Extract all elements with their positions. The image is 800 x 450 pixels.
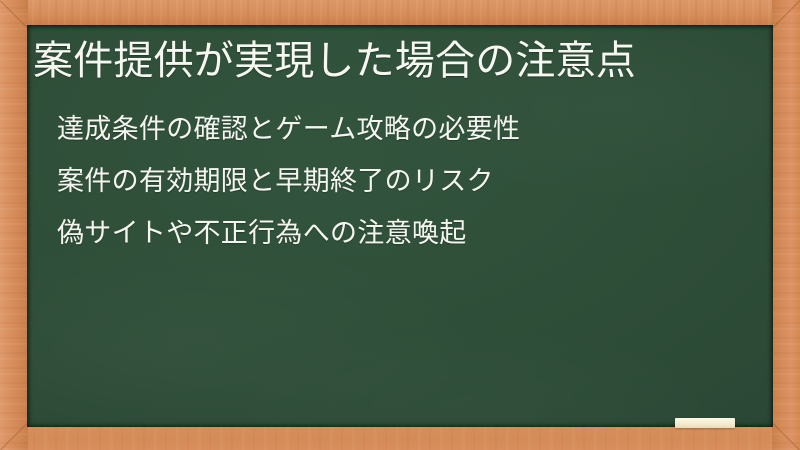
frame-rail-top xyxy=(0,0,800,26)
frame-rail-left xyxy=(0,0,28,450)
bullet-list: 達成条件の確認とゲーム攻略の必要性 案件の有効期限と早期終了のリスク 偽サイトや… xyxy=(57,103,757,259)
blackboard-surface: 案件提供が実現した場合の注意点 達成条件の確認とゲーム攻略の必要性 案件の有効期… xyxy=(27,25,773,427)
frame-rail-right xyxy=(772,0,800,450)
bullet-item-1: 達成条件の確認とゲーム攻略の必要性 xyxy=(57,103,757,155)
blackboard-content: 案件提供が実現した場合の注意点 達成条件の確認とゲーム攻略の必要性 案件の有効期… xyxy=(27,25,773,427)
frame-rail-bottom xyxy=(0,426,800,450)
bullet-item-2: 案件の有効期限と早期終了のリスク xyxy=(57,155,757,207)
slide-title: 案件提供が実現した場合の注意点 xyxy=(33,33,753,89)
chalk-stick-icon xyxy=(675,418,735,428)
blackboard-slide: 案件提供が実現した場合の注意点 達成条件の確認とゲーム攻略の必要性 案件の有効期… xyxy=(0,0,800,450)
bullet-item-3: 偽サイトや不正行為への注意喚起 xyxy=(57,207,757,259)
